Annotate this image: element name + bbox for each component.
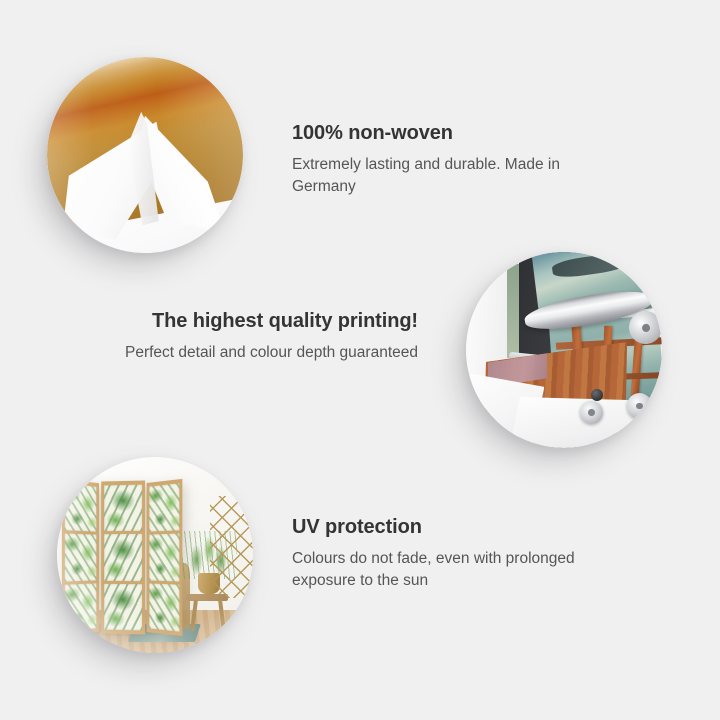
feature-description-uv-protection: Colours do not fade, even with prolonged… [292,548,592,592]
machine-handwheel [627,393,652,418]
feature-description-quality-printing: Perfect detail and colour depth guarante… [118,342,418,364]
product-feature-infographic: 100% non-woven Extremely lasting and dur… [0,0,720,720]
feature-text-uv-protection: UV protection Colours do not fade, even … [292,516,592,592]
feature-title-quality-printing: The highest quality printing! [118,310,418,333]
feature-title-uv-protection: UV protection [292,516,592,539]
printing-machine-roller-image [466,252,662,448]
feature-image-non-woven [47,57,243,253]
feature-title-non-woven: 100% non-woven [292,122,602,145]
wallpaper-sheet-peeled-corner-image [47,57,243,253]
feature-text-quality-printing: The highest quality printing! Perfect de… [118,310,418,364]
feature-description-non-woven: Extremely lasting and durable. Made in G… [292,154,602,198]
feature-text-non-woven: 100% non-woven Extremely lasting and dur… [292,122,602,198]
feature-image-uv-protection [57,457,253,653]
feature-image-quality-printing [466,252,662,448]
room-image-vignette [57,457,253,653]
room-tropical-folding-screen-image [57,457,253,653]
machine-base [509,397,646,448]
